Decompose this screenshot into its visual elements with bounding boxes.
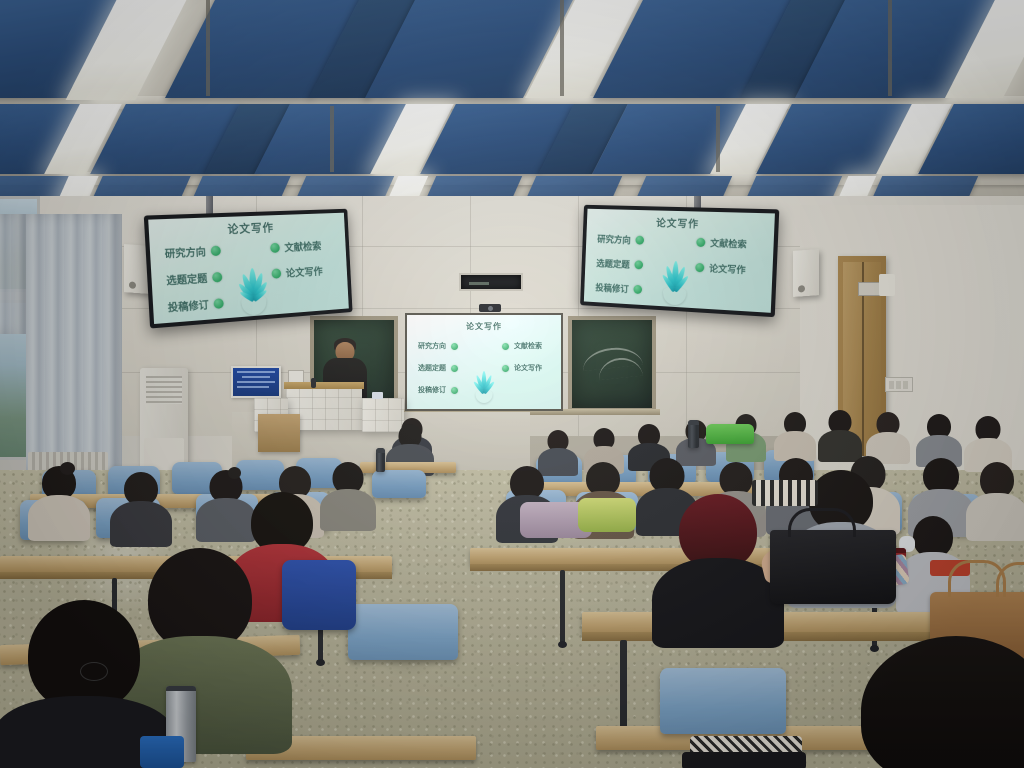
ceiling-strut <box>330 106 334 172</box>
ceiling <box>0 0 1024 212</box>
desk-leg <box>560 570 565 644</box>
slide-right-item-2: 论文写作 <box>502 363 542 373</box>
audience-member <box>866 412 910 462</box>
ceiling-strut <box>888 0 892 96</box>
slide-left-item-2: 选题定题 <box>166 269 223 288</box>
ceiling-strut <box>716 106 720 172</box>
striped-bag <box>752 480 818 506</box>
lecture-hall-photo: 论文写作 研究方向 选题定题 投稿修订 文献检索 论文写作 <box>0 0 1024 768</box>
backpack <box>282 560 356 630</box>
bullet-dot-icon <box>213 298 223 309</box>
slide-item-label: 论文写作 <box>285 263 323 280</box>
slide-left-item-2: 选题定题 <box>418 363 458 373</box>
microphone <box>311 378 316 388</box>
ac-grille <box>146 376 182 404</box>
water-bottle <box>140 736 184 768</box>
slide-plant-graphic <box>469 351 499 393</box>
ceiling-strut <box>560 0 564 96</box>
slide-title: 论文写作 <box>148 217 344 241</box>
audience-member <box>818 410 862 460</box>
slide-item-label: 文献检索 <box>514 341 542 351</box>
left-wall-tv: 论文写作 研究方向 选题定题 投稿修订 文献检索 论文写作 <box>144 209 353 329</box>
slide-item-label: 文献检索 <box>284 238 322 254</box>
curtain <box>0 214 26 334</box>
hair-bun <box>60 462 75 475</box>
center-projection-screen: 论文写作 研究方向 选题定题 投稿修订 文献检索 论文写作 <box>407 315 561 409</box>
slide-right-item-2: 论文写作 <box>695 261 746 277</box>
slide-item-label: 选题定题 <box>596 257 630 271</box>
slide-right-item-1: 文献检索 <box>696 236 747 251</box>
slide-right-item-1: 文献检索 <box>270 238 322 255</box>
bullet-dot-icon <box>633 285 642 294</box>
handbag <box>770 530 896 604</box>
blackboard-right <box>568 316 656 412</box>
slide-item-label: 研究方向 <box>418 341 446 351</box>
slide-left-item-1: 研究方向 <box>418 341 458 351</box>
wooden-cabinet <box>258 414 300 452</box>
slide-item-label: 选题定题 <box>166 270 208 288</box>
slide-item-label: 论文写作 <box>514 363 542 373</box>
bullet-dot-icon <box>210 245 221 256</box>
bag-handle <box>788 508 856 537</box>
thermos-flask <box>688 420 699 448</box>
chair[interactable] <box>348 604 458 660</box>
wall-speaker-right <box>793 249 819 297</box>
bullet-dot-icon <box>695 263 704 272</box>
slide-right-item-1: 文献检索 <box>502 341 542 351</box>
projection-screen-frame: 论文写作 研究方向 选题定题 投稿修订 文献检索 论文写作 <box>405 313 563 411</box>
slide-left-item-3: 投稿修订 <box>167 295 224 314</box>
desk-leg <box>620 640 627 736</box>
slide-item-label: 研究方向 <box>164 243 206 260</box>
slide-item-label: 投稿修订 <box>418 385 446 395</box>
right-tv-screen: 论文写作 研究方向 选题定题 投稿修订 文献检索 论文写作 <box>584 209 775 313</box>
slide-left-item-1: 研究方向 <box>597 232 644 246</box>
light-switch-plate[interactable] <box>885 377 913 392</box>
slide-title: 论文写作 <box>587 213 775 234</box>
audience-member <box>28 466 90 538</box>
slide-left-item-3: 投稿修订 <box>418 385 458 395</box>
slide-item-label: 论文写作 <box>709 261 746 276</box>
door-sensor <box>879 274 895 296</box>
eyeglasses <box>80 662 108 681</box>
bullet-dot-icon <box>502 365 509 372</box>
notice-sign <box>231 366 281 398</box>
audience-member <box>966 462 1024 540</box>
bullet-dot-icon <box>696 238 705 247</box>
paper-on-podium <box>372 392 383 399</box>
curtain <box>26 214 122 472</box>
bullet-dot-icon <box>451 365 458 372</box>
bullet-dot-icon <box>635 236 644 245</box>
chair[interactable] <box>660 668 786 734</box>
slide-item-label: 投稿修订 <box>595 281 629 296</box>
slide-item-label: 选题定题 <box>418 363 446 373</box>
right-wall-tv: 论文写作 研究方向 选题定题 投稿修订 文献检索 论文写作 <box>580 205 779 317</box>
thermos-flask <box>376 448 385 472</box>
left-tv-screen: 论文写作 研究方向 选题定题 投稿修订 文献检索 论文写作 <box>148 213 349 324</box>
handbag <box>682 752 806 768</box>
hair-bun <box>228 467 241 479</box>
bullet-dot-icon <box>502 343 509 350</box>
ceiling-strut <box>206 0 210 96</box>
bullet-dot-icon <box>451 343 458 350</box>
audience-member <box>110 472 172 544</box>
slide-item-label: 文献检索 <box>710 236 747 251</box>
slide-right-item-2: 论文写作 <box>271 263 323 281</box>
slide-left-item-3: 投稿修订 <box>595 281 642 296</box>
slide-left-item-1: 研究方向 <box>164 242 221 260</box>
shoulders <box>774 431 816 461</box>
head <box>861 636 1024 768</box>
bullet-dot-icon <box>212 271 223 282</box>
slide-plant-graphic <box>655 240 696 292</box>
slide-title: 论文写作 <box>407 321 561 332</box>
shoulders <box>28 495 90 541</box>
ceiling-camera <box>479 304 501 312</box>
slide-left-item-2: 选题定题 <box>596 257 643 272</box>
shoulders <box>966 493 1024 541</box>
shoulders <box>110 501 172 547</box>
podium-top <box>284 382 364 389</box>
audience-member <box>846 636 1024 768</box>
slide-item-label: 研究方向 <box>597 232 631 246</box>
tote-bag <box>706 424 754 444</box>
slide-item-label: 投稿修订 <box>167 296 209 314</box>
audience-member <box>774 412 816 460</box>
front-display-panel <box>459 273 523 291</box>
bullet-dot-icon <box>634 260 643 269</box>
slide-plant-graphic <box>230 247 275 302</box>
bullet-dot-icon <box>451 387 458 394</box>
draped-bag <box>578 498 636 532</box>
chair[interactable] <box>372 470 426 498</box>
